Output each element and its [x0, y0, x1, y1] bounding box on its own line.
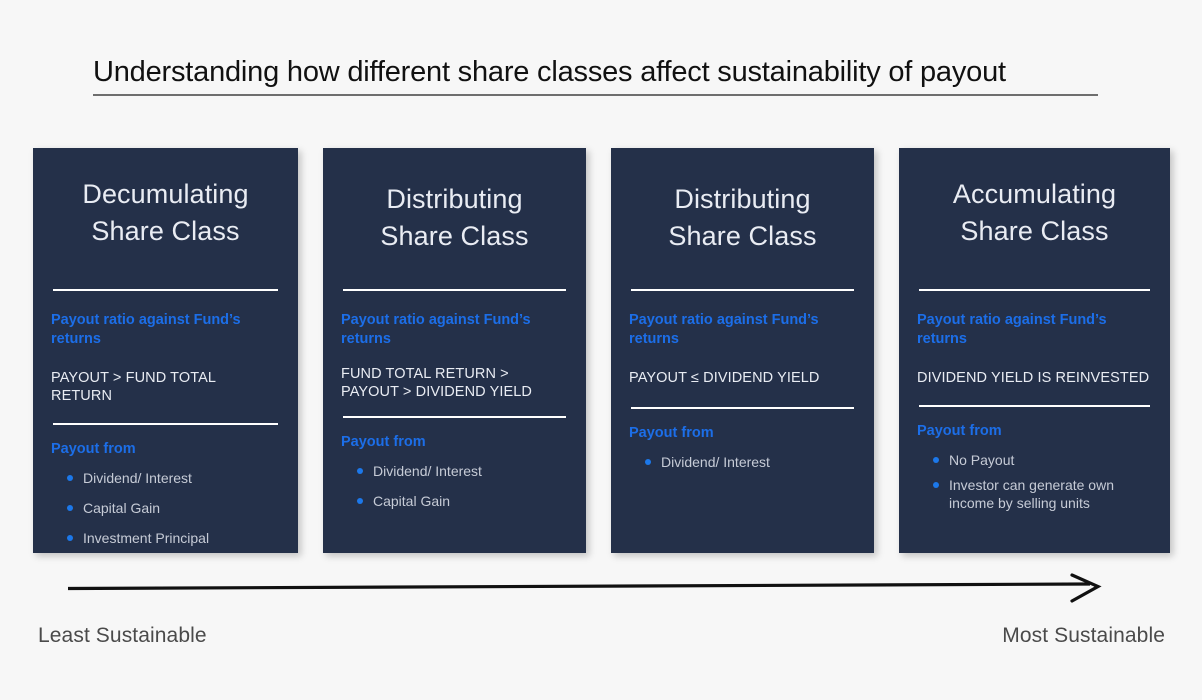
card-title-line2: Share Class [341, 218, 568, 255]
payout-source-list: Dividend/ Interest Capital Gain Investme… [51, 469, 280, 547]
payout-source-list: Dividend/ Interest [629, 453, 856, 471]
card-title: Accumulating Share Class [917, 148, 1152, 250]
page-title: Understanding how different share classe… [93, 52, 1098, 92]
divider-middle [631, 407, 854, 409]
ratio-heading: Payout ratio against Fund’s returns [917, 311, 1152, 349]
ratio-value: PAYOUT > FUND TOTAL RETURN [51, 369, 280, 405]
card-title-line1: Decumulating [51, 176, 280, 213]
payout-heading: Payout from [629, 424, 856, 443]
share-class-card-distributing-high[interactable]: Distributing Share Class Payout ratio ag… [611, 148, 874, 553]
payout-heading: Payout from [917, 422, 1152, 441]
ratio-value-line2: PAYOUT > DIVIDEND YIELD [341, 383, 568, 401]
payout-source-list: No Payout Investor can generate own inco… [917, 451, 1152, 512]
card-title-line1: Accumulating [917, 176, 1152, 213]
divider-top [919, 289, 1150, 291]
list-item: Dividend/ Interest [357, 462, 568, 480]
divider-middle [343, 416, 566, 418]
list-item: No Payout [933, 451, 1152, 469]
share-class-card-distributing-mid[interactable]: Distributing Share Class Payout ratio ag… [323, 148, 586, 553]
divider-top [53, 289, 278, 291]
ratio-heading: Payout ratio against Fund’s returns [629, 311, 856, 349]
card-title-line2: Share Class [917, 213, 1152, 250]
ratio-heading: Payout ratio against Fund’s returns [51, 311, 280, 349]
scale-label-least: Least Sustainable [38, 624, 207, 648]
card-title-line2: Share Class [51, 213, 280, 250]
list-item: Dividend/ Interest [645, 453, 856, 471]
sustainability-arrow [0, 560, 1202, 620]
divider-middle [53, 423, 278, 425]
payout-heading: Payout from [51, 440, 280, 459]
share-class-card-decumulating[interactable]: Decumulating Share Class Payout ratio ag… [33, 148, 298, 553]
title-underline [93, 94, 1098, 96]
ratio-value: PAYOUT ≤ DIVIDEND YIELD [629, 369, 856, 387]
payout-source-list: Dividend/ Interest Capital Gain [341, 462, 568, 510]
scale-label-most: Most Sustainable [1002, 624, 1165, 648]
ratio-heading: Payout ratio against Fund’s returns [341, 311, 568, 349]
card-title-line1: Distributing [629, 181, 856, 218]
card-title: Distributing Share Class [629, 148, 856, 255]
page-title-block: Understanding how different share classe… [93, 52, 1098, 96]
ratio-value: FUND TOTAL RETURN > PAYOUT > DIVIDEND YI… [341, 365, 568, 401]
card-title-line1: Distributing [341, 181, 568, 218]
share-class-card-accumulating[interactable]: Accumulating Share Class Payout ratio ag… [899, 148, 1170, 553]
list-item: Investment Principal [67, 529, 280, 547]
card-title: Distributing Share Class [341, 148, 568, 255]
ratio-value: DIVIDEND YIELD IS REINVESTED [917, 369, 1152, 387]
list-item: Capital Gain [67, 499, 280, 517]
card-title: Decumulating Share Class [51, 148, 280, 250]
payout-heading: Payout from [341, 433, 568, 452]
divider-top [343, 289, 566, 291]
ratio-value-line1: FUND TOTAL RETURN > [341, 365, 568, 383]
divider-middle [919, 405, 1150, 407]
list-item: Investor can generate own income by sell… [933, 476, 1152, 512]
list-item: Dividend/ Interest [67, 469, 280, 487]
divider-top [631, 289, 854, 291]
list-item: Capital Gain [357, 492, 568, 510]
card-title-line2: Share Class [629, 218, 856, 255]
share-class-card-row: Decumulating Share Class Payout ratio ag… [0, 148, 1202, 558]
